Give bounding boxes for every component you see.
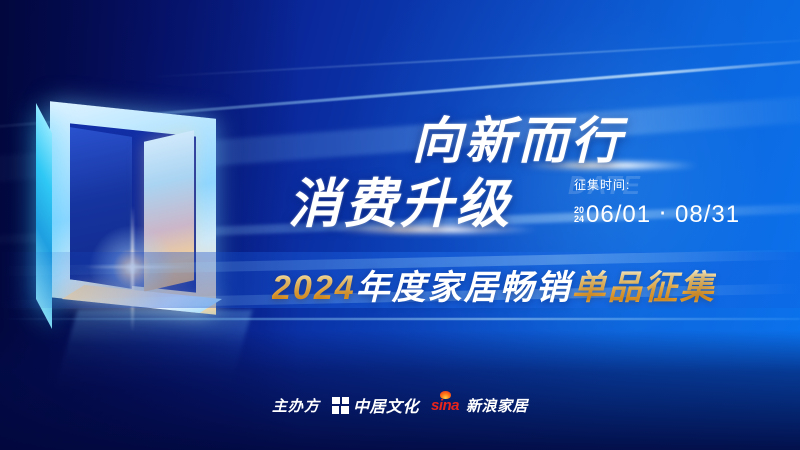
promo-banner: 向新而行 消费升级 DATE 征集时间: 20 24 06/01 ‧ 08/31… <box>0 0 800 450</box>
subtitle-white-part: 年度家居畅销 <box>356 269 572 307</box>
sponsor-sina[interactable]: sina 新浪家居 <box>431 395 528 416</box>
date-label: 征集时间: <box>574 176 740 193</box>
date-year-stacked: 20 24 <box>574 206 584 224</box>
subtitle-year: 2024 <box>272 269 356 307</box>
sina-logo-icon: sina <box>431 398 459 413</box>
subtitle-text: 2024年度家居畅销单品征集 <box>272 260 716 309</box>
zhongju-name: 中居文化 <box>353 393 419 417</box>
subtitle-gold-part: 单品征集 <box>572 269 716 307</box>
date-range-value: 06/01 ‧ 08/31 <box>586 200 740 229</box>
date-range-row: 20 24 06/01 ‧ 08/31 <box>574 200 740 229</box>
sina-name: 新浪家居 <box>466 395 528 416</box>
zhongju-logo-icon <box>332 397 349 414</box>
sponsor-zhongju[interactable]: 中居文化 <box>332 393 419 417</box>
sponsor-footer: 主办方 中居文化 sina 新浪家居 <box>0 390 800 420</box>
floor-horizon-line <box>0 318 800 320</box>
organizer-label: 主办方 <box>272 395 320 416</box>
sina-wordmark: sina <box>431 398 459 413</box>
headline-line-2: 消费升级 <box>288 176 512 234</box>
date-block: DATE 征集时间: 20 24 06/01 ‧ 08/31 <box>574 176 740 229</box>
headline-line-1: 向新而行 <box>412 113 624 169</box>
sina-eye-icon <box>440 391 451 399</box>
date-year-bottom: 24 <box>574 215 584 224</box>
